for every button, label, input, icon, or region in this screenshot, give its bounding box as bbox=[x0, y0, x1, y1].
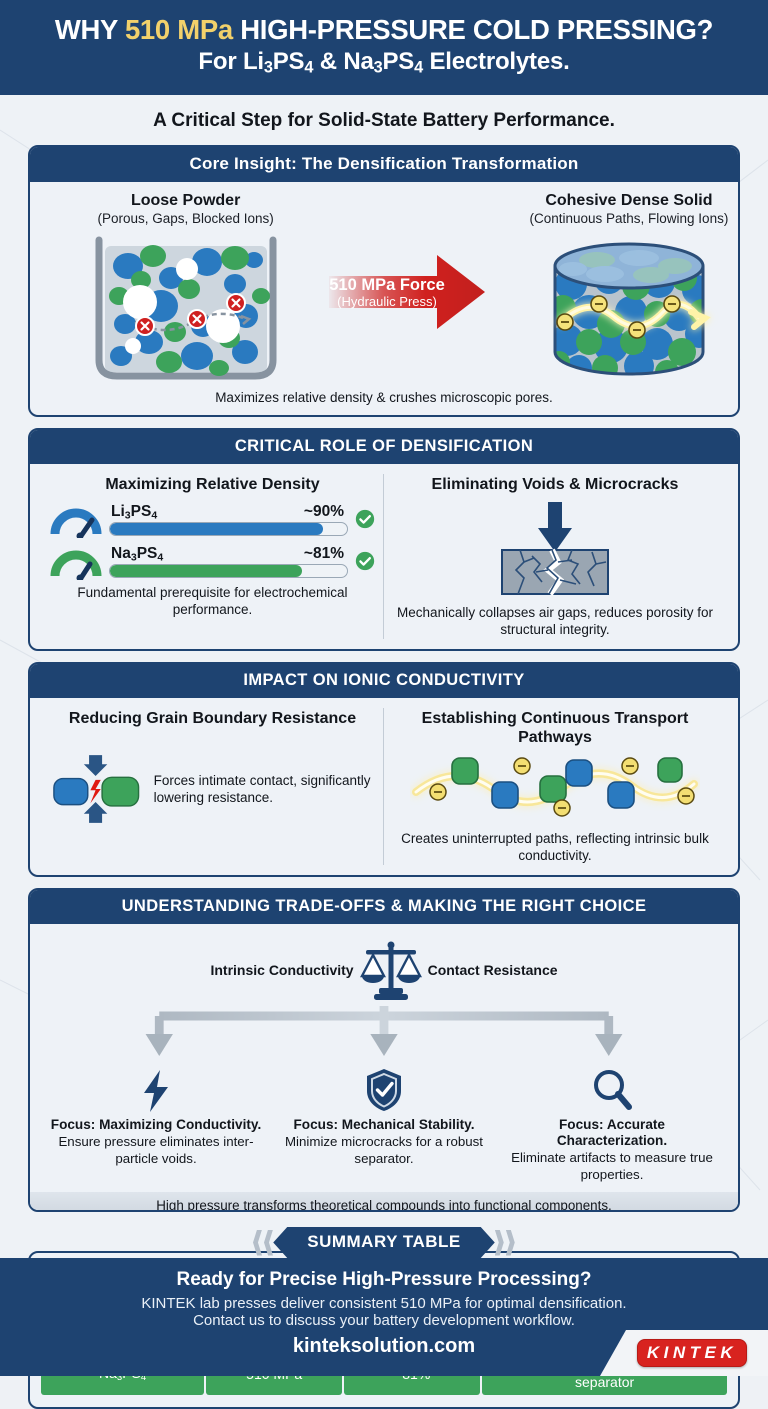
tradeoff-heading-1: Focus: Mechanical Stability. bbox=[274, 1117, 494, 1133]
core-insight-footer: Maximizes relative density & crushes mic… bbox=[42, 390, 726, 405]
conductivity-header: IMPACT ON IONIC CONDUCTIVITY bbox=[30, 664, 738, 698]
bolt-icon bbox=[139, 1069, 173, 1113]
gauge-label-na3ps4: Na3PS4 bbox=[111, 545, 163, 563]
progress-bar-na3ps4 bbox=[109, 564, 348, 578]
core-insight-body: Loose Powder (Porous, Gaps, Blocked Ions… bbox=[30, 182, 738, 415]
tradeoff-heading-2: Focus: Accurate Characterization. bbox=[502, 1117, 722, 1150]
summary-banner-label: SUMMARY TABLE bbox=[273, 1227, 495, 1258]
relative-density-caption: Fundamental prerequisite for electrochem… bbox=[50, 585, 375, 619]
kintek-logo-text: KINTEK bbox=[647, 1344, 737, 1361]
tradeoff-text-2: Eliminate artifacts to measure true prop… bbox=[502, 1150, 722, 1183]
footer-cta: Ready for Precise High-Pressure Processi… bbox=[0, 1258, 768, 1376]
tradeoffs-footer: High pressure transforms theoretical com… bbox=[30, 1192, 738, 1212]
grain-boundary-title: Reducing Grain Boundary Resistance bbox=[50, 710, 375, 729]
gauge-label-li3ps4: Li3PS4 bbox=[111, 503, 157, 521]
kintek-logo-panel: KINTEK bbox=[600, 1330, 768, 1376]
conductivity-card: IMPACT ON IONIC CONDUCTIVITY Reducing Gr… bbox=[28, 662, 740, 877]
check-icon-na3ps4 bbox=[355, 551, 375, 571]
formula-na-sub2: 4 bbox=[414, 59, 423, 77]
kintek-logo-badge: KINTEK bbox=[637, 1339, 747, 1367]
grain-boundary-block: Reducing Grain Boundary Resistance Force… bbox=[42, 708, 384, 865]
loose-powder-icon bbox=[83, 234, 288, 386]
dense-solid-block: Cohesive Dense Solid (Continuous Paths, … bbox=[485, 192, 740, 386]
formula-li-sub2: 4 bbox=[304, 59, 313, 77]
progress-bar-li3ps4 bbox=[109, 522, 348, 536]
cta-line-3: Contact us to discuss your battery devel… bbox=[0, 1312, 768, 1329]
tradeoffs-header: UNDERSTANDING TRADE-OFFS & MAKING THE RI… bbox=[30, 890, 738, 924]
core-insight-header: Core Insight: The Densification Transfor… bbox=[30, 147, 738, 182]
tradeoff-col-stability: Focus: Mechanical Stability. Minimize mi… bbox=[270, 1067, 498, 1184]
loose-powder-sub: (Porous, Gaps, Blocked Ions) bbox=[42, 211, 329, 226]
chevron-left-icon bbox=[253, 1230, 273, 1256]
formula-na-rest: PS bbox=[382, 48, 414, 75]
gauge-value-na3ps4: ~81% bbox=[304, 545, 344, 563]
arrow-sub-label: (Hydraulic Press) bbox=[337, 294, 437, 309]
transport-pathways-block: Establishing Continuous Transport Pathwa… bbox=[384, 708, 726, 865]
title-pre: WHY bbox=[55, 14, 125, 45]
formula-for: For bbox=[198, 48, 243, 75]
arrow-main-label: 510 MPa Force bbox=[329, 276, 445, 294]
tradeoffs-card: UNDERSTANDING TRADE-OFFS & MAKING THE RI… bbox=[28, 888, 740, 1212]
force-arrow-icon: 510 MPa Force (Hydraulic Press) bbox=[329, 252, 485, 332]
grain-compression-icon bbox=[50, 735, 148, 843]
branch-connectors bbox=[42, 1004, 726, 1060]
title-post: HIGH-PRESSURE COLD PRESSING? bbox=[233, 14, 713, 45]
transport-path-icon bbox=[410, 754, 700, 826]
core-insight-card: Core Insight: The Densification Transfor… bbox=[28, 145, 740, 417]
page-subtitle-formula: For Li3PS4 & Na3PS4 Electrolytes. bbox=[20, 48, 748, 78]
section-subtitle: A Critical Step for Solid-State Battery … bbox=[0, 95, 768, 145]
force-arrow-block: 510 MPa Force (Hydraulic Press) bbox=[329, 192, 485, 332]
formula-li-sub: 3 bbox=[264, 59, 273, 77]
loose-powder-block: Loose Powder (Porous, Gaps, Blocked Ions… bbox=[42, 192, 329, 386]
gauge-row-li3ps4: Li3PS4 ~90% bbox=[50, 500, 375, 538]
formula-tail: Electrolytes. bbox=[423, 48, 570, 75]
title-accent: 510 MPa bbox=[125, 14, 233, 45]
transport-title: Establishing Continuous Transport Pathwa… bbox=[392, 710, 718, 748]
tradeoff-text-1: Minimize microcracks for a robust separa… bbox=[274, 1134, 494, 1167]
tradeoff-col-conductivity: Focus: Maximizing Conductivity. Ensure p… bbox=[42, 1067, 270, 1184]
tradeoff-text-0: Ensure pressure eliminates inter-particl… bbox=[46, 1134, 266, 1167]
gauge-value-li3ps4: ~90% bbox=[304, 503, 344, 521]
cta-line-2: KINTEK lab presses deliver consistent 51… bbox=[0, 1295, 768, 1312]
formula-na: Na bbox=[343, 48, 373, 75]
scale-left-label: Intrinsic Conductivity bbox=[210, 962, 353, 979]
cta-headline: Ready for Precise High-Pressure Processi… bbox=[0, 1269, 768, 1291]
gauge-row-na3ps4: Na3PS4 ~81% bbox=[50, 542, 375, 580]
page-title: WHY 510 MPa HIGH-PRESSURE COLD PRESSING? bbox=[20, 14, 748, 46]
grain-boundary-text: Forces intimate contact, significantly l… bbox=[154, 772, 375, 807]
crack-icon bbox=[480, 500, 630, 600]
voids-caption: Mechanically collapses air gaps, reduces… bbox=[392, 605, 718, 639]
gauge-icon-blue bbox=[50, 500, 102, 538]
loose-powder-title: Loose Powder bbox=[42, 192, 329, 210]
magnifier-icon bbox=[591, 1067, 633, 1113]
voids-microcracks-block: Eliminating Voids & Microcracks bbox=[384, 474, 726, 640]
formula-li-rest: PS bbox=[273, 48, 305, 75]
voids-title: Eliminating Voids & Microcracks bbox=[392, 476, 718, 495]
balance-scale-icon bbox=[360, 938, 422, 1004]
densification-header: CRITICAL ROLE OF DENSIFICATION bbox=[30, 430, 738, 464]
check-icon-li3ps4 bbox=[355, 509, 375, 529]
dense-solid-sub: (Continuous Paths, Flowing Ions) bbox=[485, 211, 740, 226]
chevron-right-icon bbox=[495, 1230, 515, 1256]
tradeoff-heading-0: Focus: Maximizing Conductivity. bbox=[46, 1117, 266, 1133]
masthead: WHY 510 MPa HIGH-PRESSURE COLD PRESSING?… bbox=[0, 0, 768, 95]
formula-li: Li bbox=[243, 48, 264, 75]
tradeoff-col-characterization: Focus: Accurate Characterization. Elimin… bbox=[498, 1067, 726, 1184]
infographic-page: WHY 510 MPa HIGH-PRESSURE COLD PRESSING?… bbox=[0, 0, 768, 1376]
shield-check-icon bbox=[364, 1067, 404, 1113]
transport-caption: Creates uninterrupted paths, reflecting … bbox=[392, 831, 718, 865]
relative-density-title: Maximizing Relative Density bbox=[50, 476, 375, 495]
dense-solid-title: Cohesive Dense Solid bbox=[485, 192, 740, 210]
scale-right-label: Contact Resistance bbox=[428, 962, 558, 979]
gauge-icon-green bbox=[50, 542, 102, 580]
relative-density-block: Maximizing Relative Density Li3PS4 ~90% bbox=[42, 474, 384, 640]
densification-card: CRITICAL ROLE OF DENSIFICATION Maximizin… bbox=[28, 428, 740, 652]
dense-solid-icon bbox=[539, 234, 719, 386]
formula-amp: & bbox=[313, 48, 343, 75]
